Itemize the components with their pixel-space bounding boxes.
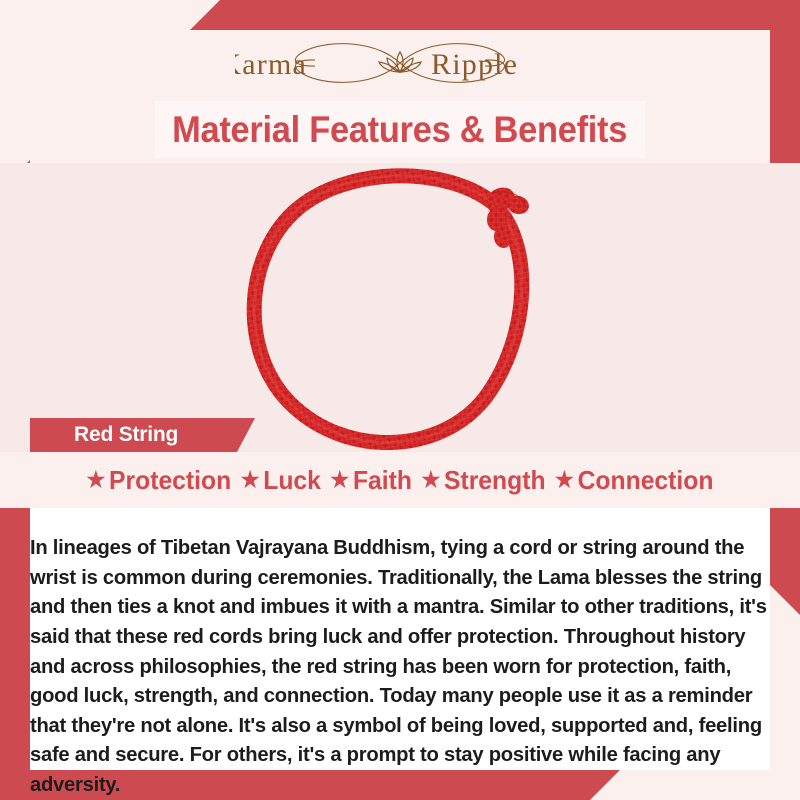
brand-logo: Karma Ripple — [0, 34, 800, 92]
brand-name-left: Karma — [235, 48, 307, 81]
description-panel: In lineages of Tibetan Vajrayana Buddhis… — [30, 508, 770, 770]
description-text: In lineages of Tibetan Vajrayana Buddhis… — [30, 534, 778, 800]
infographic-page: Karma Ripple Material Features & Benefit… — [0, 0, 800, 800]
star-icon: ★ — [421, 469, 440, 491]
logo-svg: Karma Ripple — [235, 34, 565, 92]
frame-bar-top — [0, 0, 800, 30]
star-icon: ★ — [241, 469, 260, 491]
feature-label: Luck — [263, 465, 321, 496]
material-label-text: Red String — [30, 423, 178, 447]
feature-label: Strength — [444, 465, 546, 496]
material-label-banner: Red String — [30, 418, 255, 452]
star-icon: ★ — [555, 469, 574, 491]
lotus-icon — [379, 52, 421, 72]
feature-item-connection: ★ Connection — [555, 465, 713, 496]
feature-label: Faith — [353, 465, 412, 496]
title-banner: Material Features & Benefits — [155, 101, 645, 158]
feature-item-faith: ★ Faith — [330, 465, 412, 496]
star-icon: ★ — [87, 469, 106, 491]
feature-label: Connection — [578, 465, 714, 496]
feature-item-strength: ★ Strength — [421, 465, 545, 496]
features-row: ★ Protection ★ Luck ★ Faith ★ Strength ★… — [82, 465, 718, 496]
feature-label: Protection — [109, 465, 231, 496]
star-icon: ★ — [330, 469, 349, 491]
feature-item-protection: ★ Protection — [87, 465, 232, 496]
brand-name-right: Ripple — [431, 48, 518, 81]
page-title: Material Features & Benefits — [173, 109, 628, 151]
product-photo-panel — [0, 163, 800, 452]
features-strip: ★ Protection ★ Luck ★ Faith ★ Strength ★… — [0, 452, 800, 508]
feature-item-luck: ★ Luck — [241, 465, 321, 496]
